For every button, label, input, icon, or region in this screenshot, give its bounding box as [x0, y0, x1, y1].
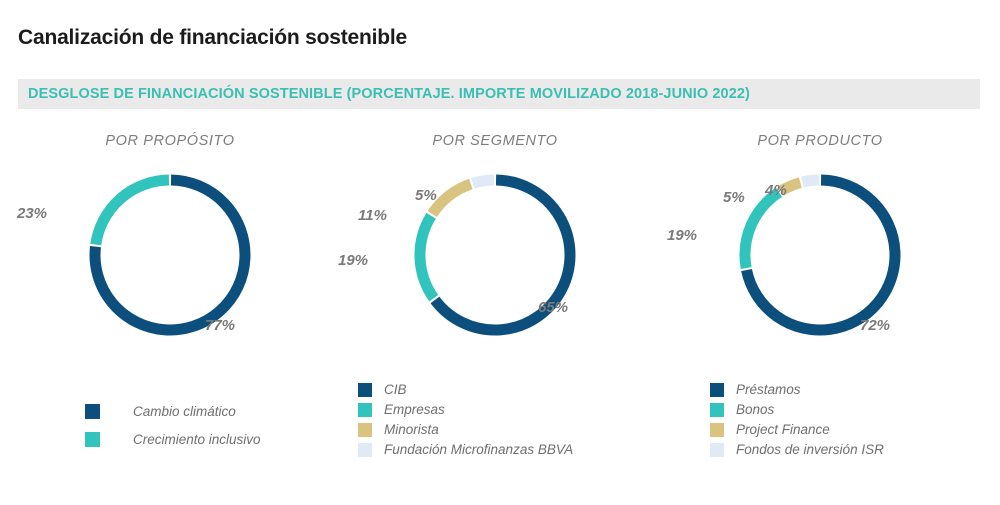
legend-item-label: Fundación Microfinanzas BBVA	[384, 442, 573, 457]
page-title: Canalización de financiación sostenible	[18, 26, 407, 50]
donut-segment	[420, 216, 434, 299]
slice-percentage-label: 11%	[358, 207, 387, 224]
legend-item-label: Project Finance	[736, 422, 830, 437]
legend-item[interactable]: Project Finance	[710, 422, 884, 437]
legend-color-swatch-icon	[358, 423, 372, 437]
legend-item[interactable]: CIB	[358, 382, 573, 397]
legend-color-swatch-icon	[358, 403, 372, 417]
donut-segment	[802, 180, 819, 182]
legend-item[interactable]: Bonos	[710, 402, 884, 417]
legend-item[interactable]: Fundación Microfinanzas BBVA	[358, 442, 573, 457]
donut-segment	[432, 184, 471, 214]
legend-item-label: Préstamos	[736, 382, 801, 397]
chart-heading-por-segmento: POR SEGMENTO	[330, 133, 660, 149]
slice-percentage-label: 4%	[765, 182, 787, 199]
legend-color-swatch-icon	[710, 443, 724, 457]
legend-color-swatch-icon	[85, 404, 100, 419]
slice-percentage-label: 19%	[338, 252, 368, 269]
slice-percentage-label: 5%	[723, 189, 745, 206]
legend-color-swatch-icon	[85, 432, 100, 447]
legend-item[interactable]: Fondos de inversión ISR	[710, 442, 884, 457]
slice-percentage-label: 77%	[205, 317, 235, 334]
legend-color-swatch-icon	[358, 383, 372, 397]
legend-color-swatch-icon	[710, 383, 724, 397]
legend-item[interactable]: Préstamos	[710, 382, 884, 397]
chart-column-por-producto: POR PRODUCTO 72%19%5%4%	[655, 125, 985, 365]
donut-segment	[96, 180, 169, 245]
donut-wrap-por-segmento: 65%19%11%5%	[330, 167, 660, 357]
charts-row: POR PROPÓSITO 77%23% POR SEGMENTO 65%19%…	[0, 125, 1000, 365]
chart-column-por-proposito: POR PROPÓSITO 77%23%	[5, 125, 335, 365]
legend-color-swatch-icon	[710, 403, 724, 417]
legend-item-label: Cambio climático	[133, 404, 236, 419]
chart-heading-por-producto: POR PRODUCTO	[655, 133, 985, 149]
legend-por-producto: PréstamosBonosProject FinanceFondos de i…	[710, 382, 884, 462]
donut-segment	[745, 192, 779, 268]
legend-item-label: CIB	[384, 382, 407, 397]
legend-item-label: Bonos	[736, 402, 774, 417]
legend-item[interactable]: Empresas	[358, 402, 573, 417]
donut-wrap-por-proposito: 77%23%	[5, 167, 335, 357]
slice-percentage-label: 23%	[17, 205, 47, 222]
chart-heading-por-proposito: POR PROPÓSITO	[5, 133, 335, 149]
legend-item[interactable]: Cambio climático	[85, 404, 261, 419]
slice-percentage-label: 19%	[667, 227, 697, 244]
donut-wrap-por-producto: 72%19%5%4%	[655, 167, 985, 357]
slice-percentage-label: 65%	[538, 299, 568, 316]
slice-percentage-label: 5%	[415, 187, 437, 204]
legend-por-proposito: Cambio climáticoCrecimiento inclusivo	[85, 404, 261, 460]
legend-color-swatch-icon	[358, 443, 372, 457]
legend-item[interactable]: Crecimiento inclusivo	[85, 432, 261, 447]
donut-segment	[473, 180, 494, 183]
subtitle-band: DESGLOSE DE FINANCIACIÓN SOSTENIBLE (POR…	[18, 79, 980, 109]
chart-column-por-segmento: POR SEGMENTO 65%19%11%5%	[330, 125, 660, 365]
subtitle-text: DESGLOSE DE FINANCIACIÓN SOSTENIBLE (POR…	[18, 86, 750, 102]
legend-por-segmento: CIBEmpresasMinoristaFundación Microfinan…	[358, 382, 573, 462]
slice-percentage-label: 72%	[860, 317, 890, 334]
legend-item-label: Minorista	[384, 422, 439, 437]
infographic-page: Canalización de financiación sostenible …	[0, 0, 1000, 505]
legend-item-label: Fondos de inversión ISR	[736, 442, 884, 457]
legend-item-label: Crecimiento inclusivo	[133, 432, 261, 447]
legend-item-label: Empresas	[384, 402, 445, 417]
legend-color-swatch-icon	[710, 423, 724, 437]
legend-item[interactable]: Minorista	[358, 422, 573, 437]
